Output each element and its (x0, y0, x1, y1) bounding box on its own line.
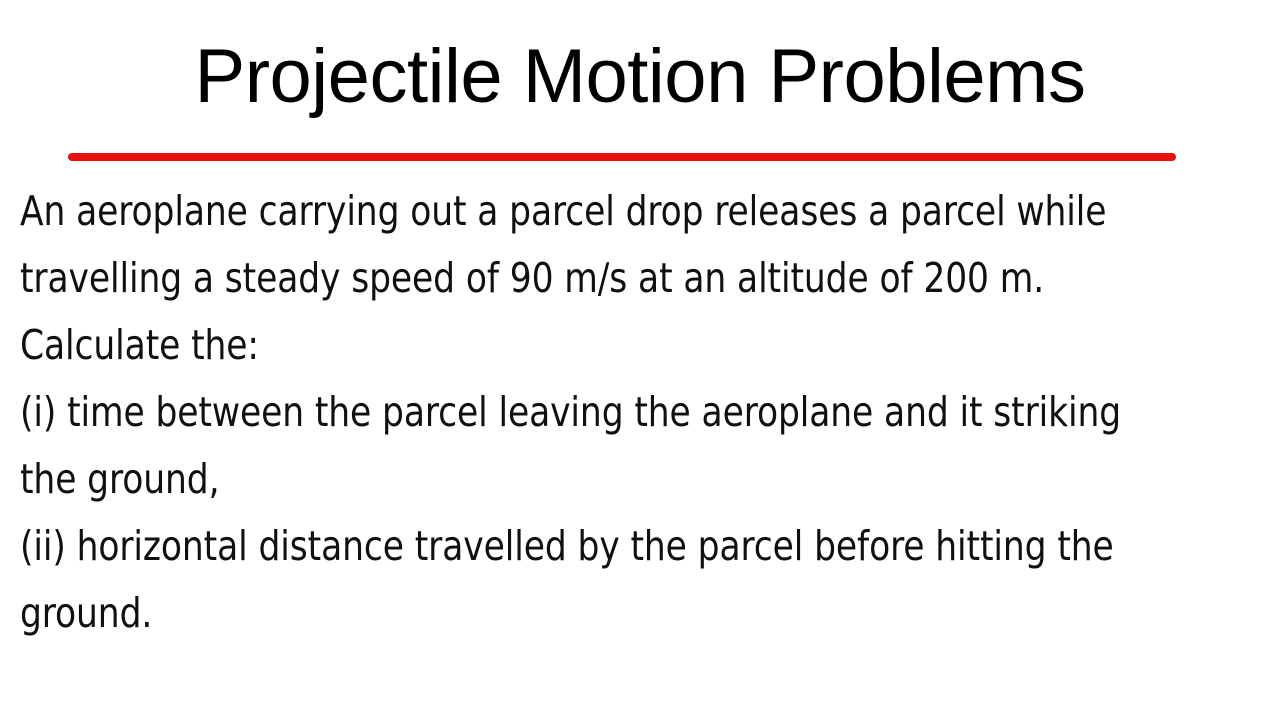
body-line-1: An aeroplane carrying out a parcel drop … (20, 178, 1184, 245)
title-underline-rule (68, 153, 1176, 161)
body-line-5: the ground, (20, 446, 1184, 513)
question-body: An aeroplane carrying out a parcel drop … (20, 178, 1265, 647)
page-title: Projectile Motion Problems (0, 34, 1280, 120)
body-line-4: (i) time between the parcel leaving the … (20, 379, 1184, 446)
slide-canvas: Projectile Motion Problems An aeroplane … (0, 0, 1280, 720)
title-block: Projectile Motion Problems (0, 34, 1280, 130)
body-line-7: ground. (20, 580, 1184, 647)
body-line-2: travelling a steady speed of 90 m/s at a… (20, 245, 1184, 312)
body-line-6: (ii) horizontal distance travelled by th… (20, 513, 1184, 580)
body-line-3: Calculate the: (20, 312, 1184, 379)
